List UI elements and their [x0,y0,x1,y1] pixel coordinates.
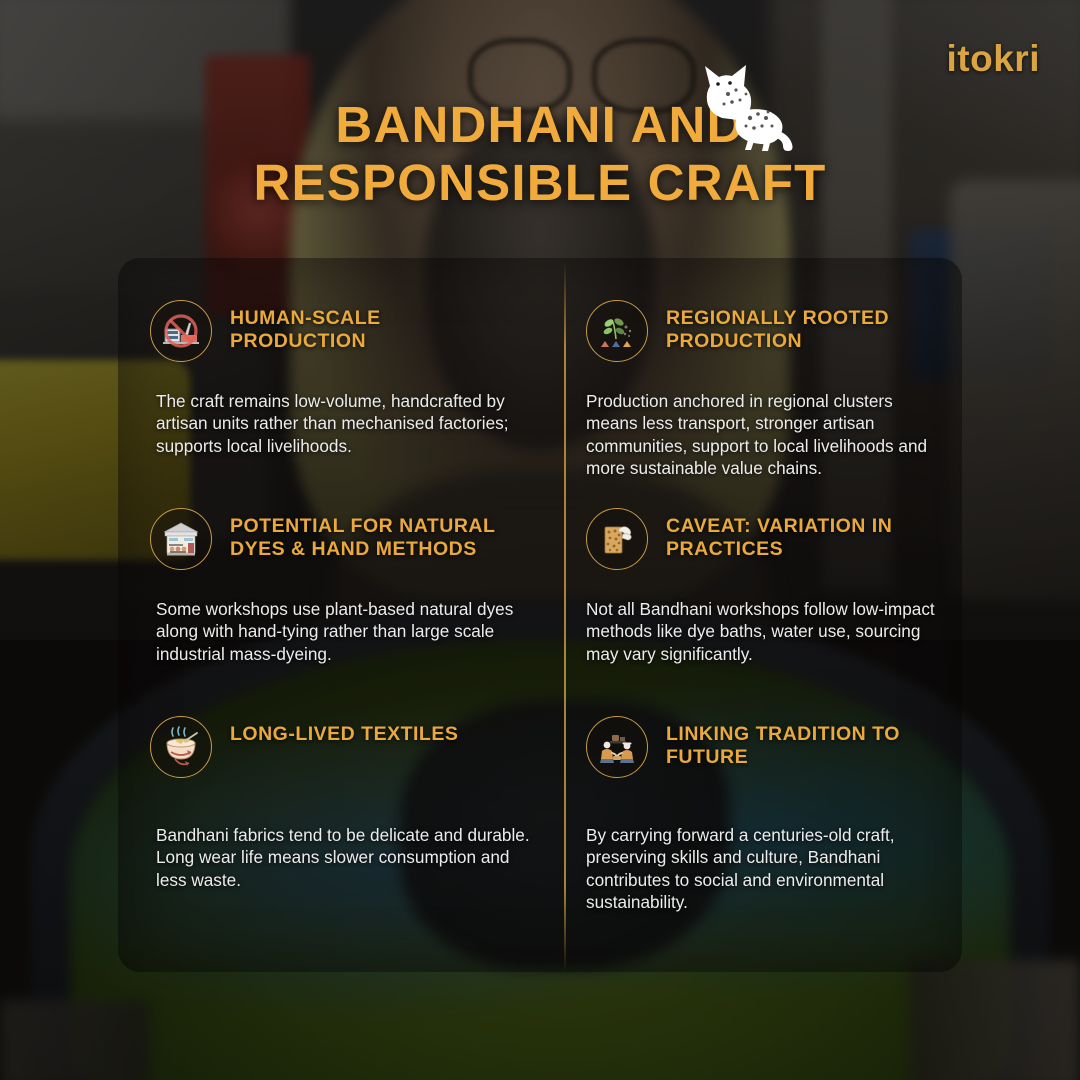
card-body: By carrying forward a centuries-old craf… [586,824,940,914]
card-header: LINKING TRADITION TO FUTURE [586,716,940,778]
two-artisans-working-icon [586,716,648,778]
card-header: POTENTIAL FOR NATURAL DYES & HAND METHOD… [150,508,542,570]
page-title-line-2: RESPONSIBLE CRAFT [0,154,1080,212]
benefits-grid: HUMAN-SCALE PRODUCTION The craft remains… [118,258,962,972]
card-natural-dyes-hand-methods: POTENTIAL FOR NATURAL DYES & HAND METHOD… [118,508,564,716]
cat-illustration-icon [688,56,798,152]
card-caveat-variation-in-practices: CAVEAT: VARIATION IN PRACTICES Not all B… [564,508,962,716]
card-body: The craft remains low-volume, handcrafte… [156,390,542,457]
brand-logo[interactable]: itokri [947,38,1040,80]
steaming-dye-pot-icon [150,716,212,778]
card-title: LONG-LIVED TEXTILES [230,723,458,746]
card-long-lived-textiles: LONG-LIVED TEXTILES Bandhani fabrics ten… [118,716,564,926]
no-factory-machine-icon [150,300,212,362]
card-human-scale-production: HUMAN-SCALE PRODUCTION The craft remains… [118,300,564,508]
card-body: Not all Bandhani workshops follow low-im… [586,598,940,665]
card-title: LINKING TRADITION TO FUTURE [666,723,912,769]
card-title: HUMAN-SCALE PRODUCTION [230,307,498,353]
card-title: CAVEAT: VARIATION IN PRACTICES [666,515,912,561]
card-body: Bandhani fabrics tend to be delicate and… [156,824,542,891]
page-title-line-1: BANDHANI AND [0,96,1080,154]
card-header: REGIONALLY ROOTED PRODUCTION [586,300,940,362]
page-title: BANDHANI AND RESPONSIBLE CRAFT [0,96,1080,212]
hand-holding-patterned-fabric-icon [586,508,648,570]
card-title: POTENTIAL FOR NATURAL DYES & HAND METHOD… [230,515,498,561]
card-regionally-rooted-production: REGIONALLY ROOTED PRODUCTION Production … [564,300,962,508]
card-header: CAVEAT: VARIATION IN PRACTICES [586,508,940,570]
infographic-poster: itokri BANDHANI AND RESPONSIBLE CRAFT [0,0,1080,1080]
card-header: LONG-LIVED TEXTILES [150,716,542,778]
craft-workshop-storefront-icon [150,508,212,570]
seedling-soil-icon [586,300,648,362]
card-body: Production anchored in regional clusters… [586,390,940,480]
card-title: REGIONALLY ROOTED PRODUCTION [666,307,912,353]
card-linking-tradition-to-future: LINKING TRADITION TO FUTURE By carrying … [564,716,962,926]
card-header: HUMAN-SCALE PRODUCTION [150,300,542,362]
card-body: Some workshops use plant-based natural d… [156,598,542,665]
